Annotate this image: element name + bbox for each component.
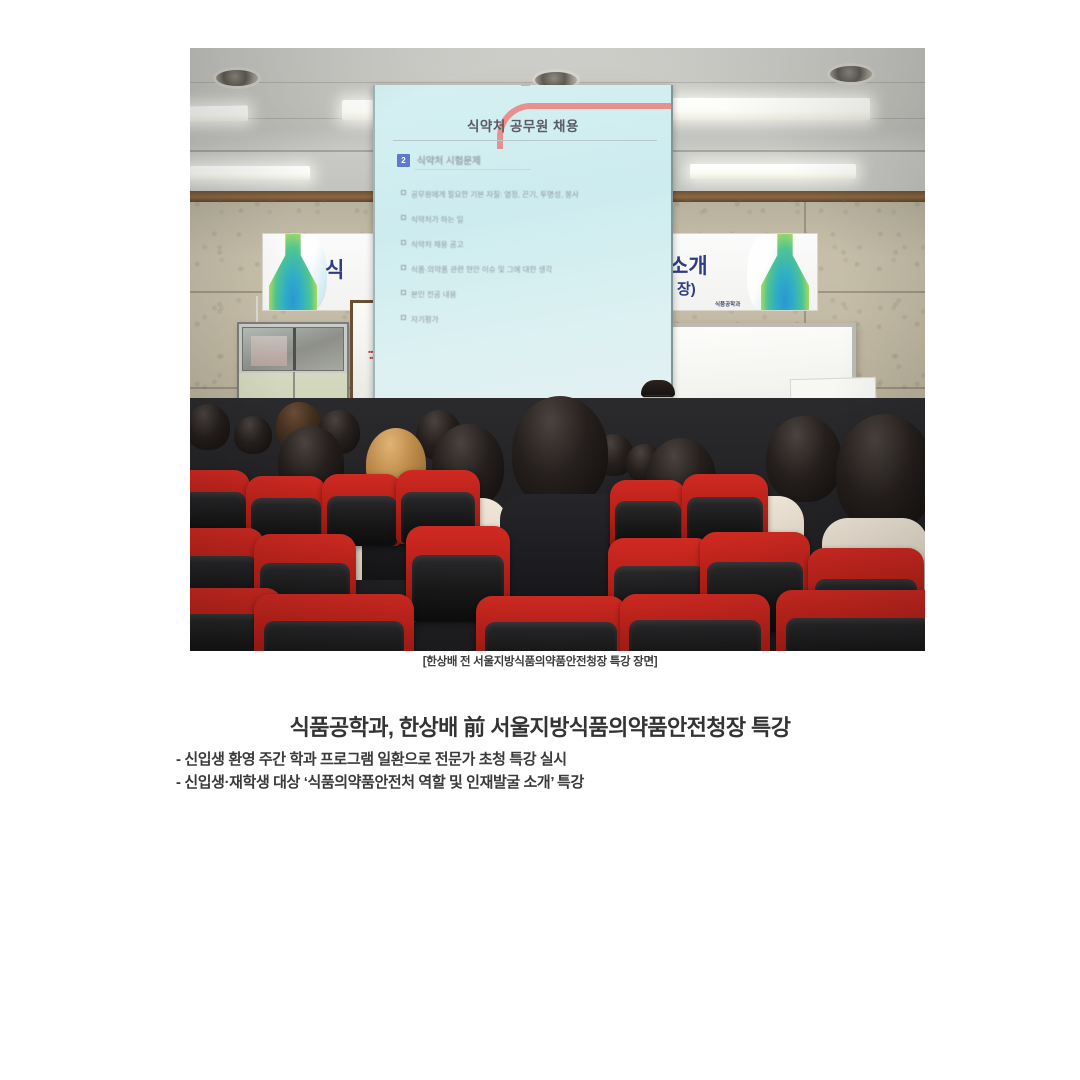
ceiling-vent-icon <box>830 66 872 82</box>
slide-bullet: 식약처 채용 공고 <box>401 239 657 250</box>
banner-right-line1: 소개 <box>669 250 708 280</box>
ceiling-lamp <box>190 166 310 180</box>
auditorium-seat <box>476 596 626 651</box>
cabinet-glass-door <box>242 327 344 371</box>
slide-bullet: 자기평가 <box>401 314 657 325</box>
auditorium-seat <box>254 594 414 651</box>
slide-title: 식약처 공무원 채용 <box>467 115 579 135</box>
cabinet-contents <box>251 336 287 366</box>
slide-bullet: 공무원에게 필요한 기본 자질: 열정, 끈기, 투명성, 봉사 <box>401 189 657 200</box>
checkbox-icon <box>401 215 406 220</box>
slide-bullet: 식품·의약품 관련 현안 이슈 및 그에 대한 생각 <box>401 264 657 275</box>
summary-bullet-2: - 신입생·재학생 대상 ‘식품의약품안전처 역할 및 인재발굴 소개’ 특강 <box>176 771 584 794</box>
slide-divider <box>393 140 657 141</box>
auditorium-seat <box>620 594 770 651</box>
slide-bullet: 본인 전공 내용 <box>401 289 657 300</box>
auditorium-seat <box>776 590 925 651</box>
checkbox-icon <box>401 190 406 195</box>
screen-hanger <box>521 85 530 86</box>
checkbox-icon <box>401 315 406 320</box>
summary-bullet-1: - 신입생 환영 주간 학과 프로그램 일환으로 전문가 초청 특강 실시 <box>176 748 584 771</box>
slide-section-label: 식약처 시험문제 <box>417 153 481 167</box>
banner-right: 소개 장) 식품공학과 <box>658 233 818 311</box>
ceiling-lamp <box>190 105 248 122</box>
banner-left-text: 식 <box>325 254 344 284</box>
audience-head <box>234 416 272 454</box>
cabinet-rod <box>256 296 258 324</box>
ceiling-vent-icon <box>216 70 258 86</box>
slide-section-badge: 2 <box>397 154 410 167</box>
slide-bullet: 식약처가 하는 일 <box>401 214 657 225</box>
lecture-photo: 식 소개 장) 식품공학과 <box>190 48 925 651</box>
audience-area <box>190 398 925 651</box>
audience-head <box>190 404 230 450</box>
checkbox-icon <box>401 290 406 295</box>
audience-head <box>512 396 608 508</box>
checkbox-icon <box>401 265 406 270</box>
checkbox-icon <box>401 240 406 245</box>
slide-bullet-list: 공무원에게 필요한 기본 자질: 열정, 끈기, 투명성, 봉사 식약처가 하는… <box>401 189 657 339</box>
audience-head <box>836 414 925 532</box>
photo-scene: 식 소개 장) 식품공학과 <box>190 48 925 651</box>
photo-caption: [한상배 전 서울지방식품의약품안전청장 특강 장면] <box>0 653 1080 669</box>
ceiling-lamp <box>670 98 870 120</box>
page-root: 식 소개 장) 식품공학과 <box>0 0 1080 1080</box>
slide-section-divider <box>415 169 531 170</box>
summary-bullets: - 신입생 환영 주간 학과 프로그램 일환으로 전문가 초청 특강 실시 - … <box>176 748 584 794</box>
page-title: 식품공학과, 한상배 前 서울지방식품의약품안전청장 특강 <box>0 710 1080 742</box>
banner-right-line3: 식품공학과 <box>715 300 740 308</box>
banner-right-line2: 장) <box>677 278 696 299</box>
audience-head <box>766 416 842 502</box>
ceiling-lamp <box>690 164 856 179</box>
